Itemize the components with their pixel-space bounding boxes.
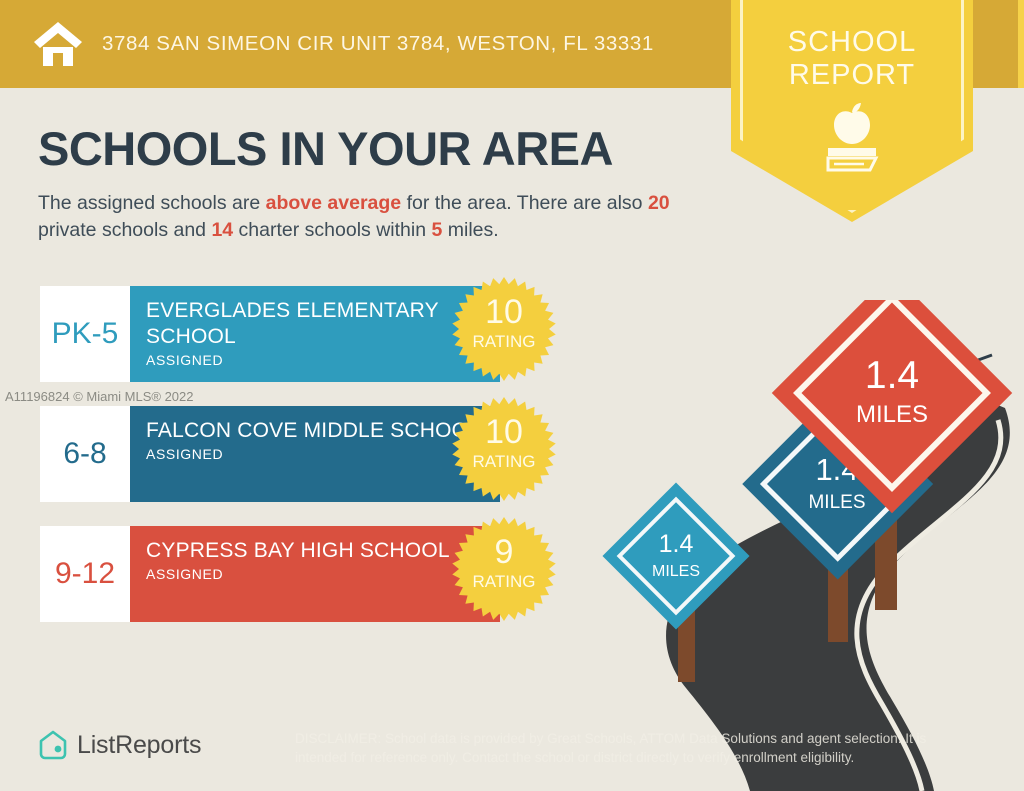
title-block: SCHOOLS IN YOUR AREA The assigned school… [38, 122, 728, 244]
svg-text:MILES: MILES [652, 563, 700, 580]
school-report-infographic: 3784 SAN SIMEON CIR UNIT 3784, WESTON, F… [0, 0, 1024, 791]
school-row[interactable]: 6-8 FALCON COVE MIDDLE SCHOOL ASSIGNED [40, 406, 500, 502]
grade-range-label: PK-5 [52, 317, 119, 351]
property-address: 3784 SAN SIMEON CIR UNIT 3784, WESTON, F… [102, 32, 654, 56]
school-name: EVERGLADES ELEMENTARY SCHOOL [146, 298, 486, 350]
school-row[interactable]: PK-5 EVERGLADES ELEMENTARY SCHOOL ASSIGN… [40, 286, 500, 382]
school-name: FALCON COVE MIDDLE SCHOOL [146, 418, 486, 444]
badge-title-line1: SCHOOL [731, 26, 973, 59]
grade-range-box: 6-8 [40, 406, 130, 502]
school-report-badge: SCHOOL REPORT [731, 0, 973, 222]
rating-label: RATING [473, 572, 536, 591]
school-status: ASSIGNED [146, 352, 486, 368]
rating-value: 10 [485, 293, 523, 331]
school-info: EVERGLADES ELEMENTARY SCHOOL ASSIGNED [130, 286, 500, 382]
subtitle-highlight-charter-count: 14 [211, 219, 233, 241]
school-name: CYPRESS BAY HIGH SCHOOL [146, 538, 486, 564]
apple-and-book-icon [812, 100, 892, 172]
school-info: CYPRESS BAY HIGH SCHOOL ASSIGNED [130, 526, 500, 622]
svg-text:1.4: 1.4 [865, 354, 919, 397]
subtitle-text-3: private schools and [38, 219, 211, 241]
grade-range-label: 9-12 [55, 557, 115, 591]
subtitle-text-1: The assigned schools are [38, 192, 266, 214]
listreports-house-tag-icon [38, 729, 68, 761]
page-subtitle: The assigned schools are above average f… [38, 190, 728, 244]
grade-range-box: PK-5 [40, 286, 130, 382]
svg-text:1.4: 1.4 [659, 530, 694, 558]
rating-label: RATING [473, 332, 536, 351]
svg-text:MILES: MILES [808, 492, 865, 513]
school-row[interactable]: 9-12 CYPRESS BAY HIGH SCHOOL ASSIGNED [40, 526, 500, 622]
home-icon [32, 20, 84, 68]
brand-name: ListReports [77, 731, 201, 760]
subtitle-highlight-above-average: above average [266, 192, 402, 214]
rating-seal: 9 RATING [452, 517, 556, 621]
svg-text:MILES: MILES [856, 401, 928, 428]
school-info: FALCON COVE MIDDLE SCHOOL ASSIGNED [130, 406, 500, 502]
rating-seal: 10 RATING [452, 397, 556, 501]
page-title: SCHOOLS IN YOUR AREA [38, 122, 728, 176]
rating-value: 10 [485, 413, 523, 451]
disclaimer-text: DISCLAIMER: School data is provided by G… [295, 729, 975, 767]
grade-range-label: 6-8 [63, 437, 106, 471]
rating-seal: 10 RATING [452, 277, 556, 381]
subtitle-highlight-private-count: 20 [648, 192, 670, 214]
rating-label: RATING [473, 452, 536, 471]
badge-title: SCHOOL REPORT [731, 26, 973, 92]
mls-watermark: A11196824 © Miami MLS® 2022 [5, 389, 194, 404]
brand-logo: ListReports [38, 729, 201, 761]
grade-range-box: 9-12 [40, 526, 130, 622]
school-status: ASSIGNED [146, 446, 486, 462]
badge-title-line2: REPORT [731, 59, 973, 92]
subtitle-text-4: charter schools within [233, 219, 431, 241]
subtitle-highlight-radius: 5 [431, 219, 442, 241]
school-status: ASSIGNED [146, 566, 486, 582]
subtitle-text-2: for the area. There are also [401, 192, 648, 214]
footer: ListReports DISCLAIMER: School data is p… [0, 715, 1024, 791]
rating-value: 9 [495, 533, 514, 571]
subtitle-text-5: miles. [442, 219, 498, 241]
